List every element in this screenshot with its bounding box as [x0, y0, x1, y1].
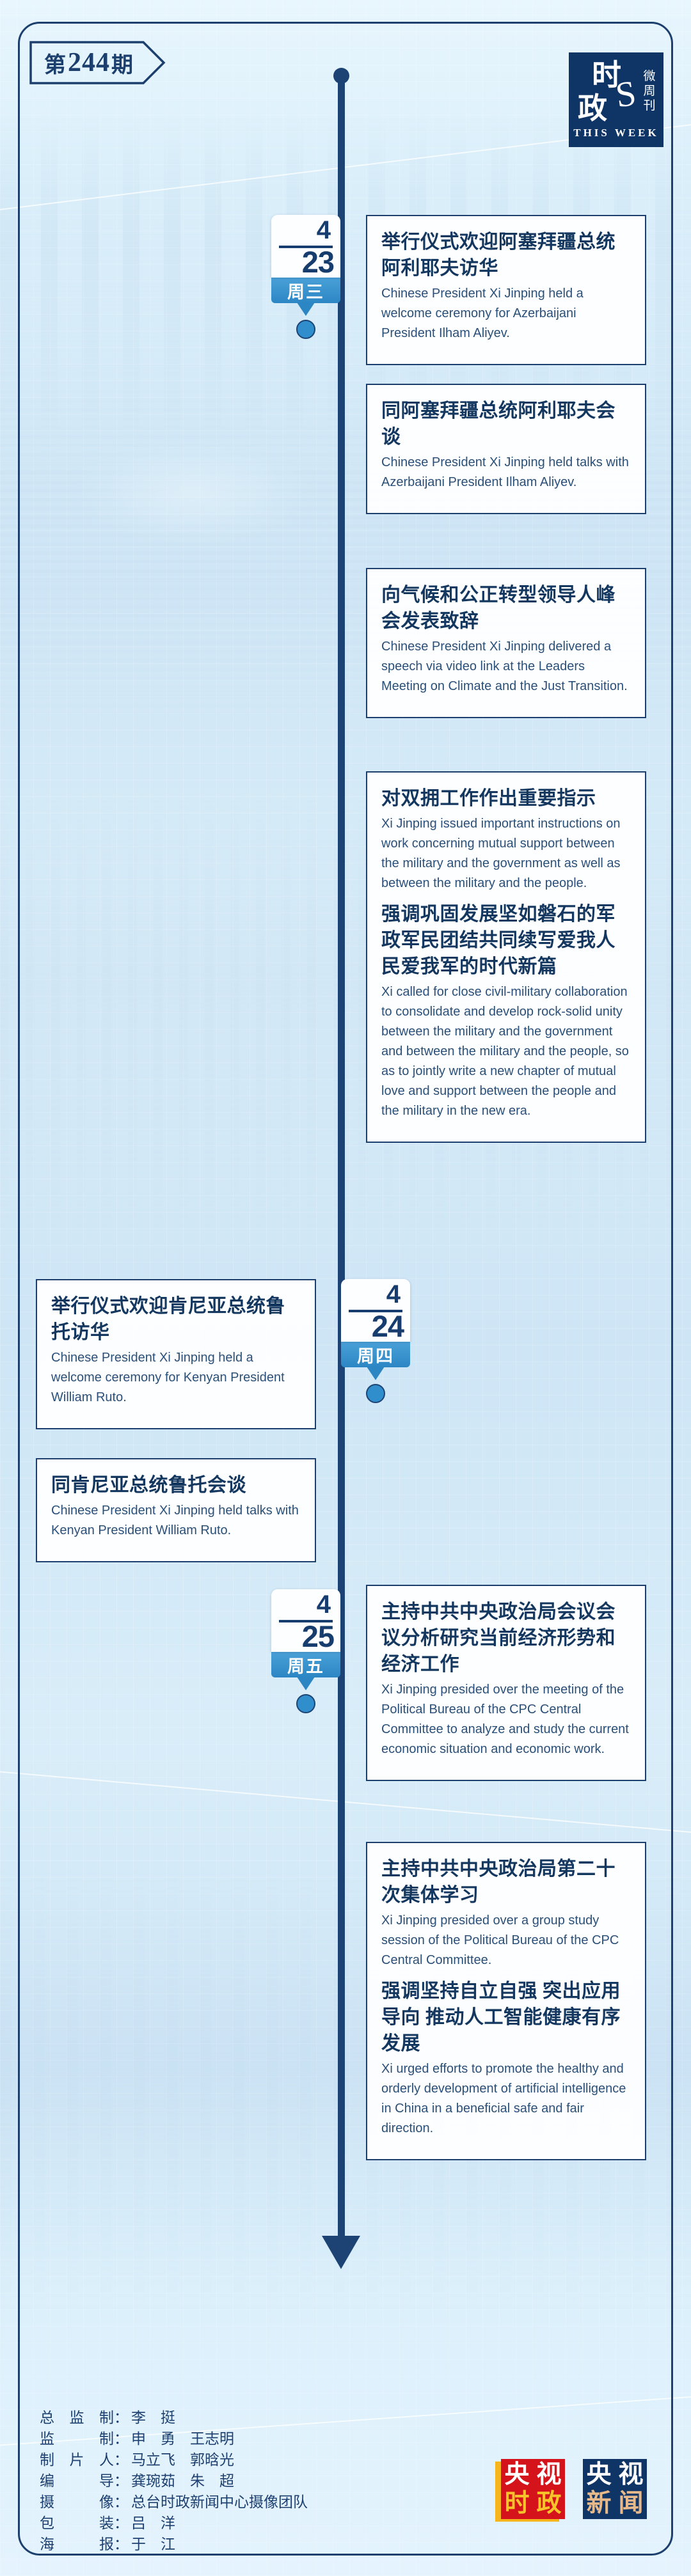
- logo-char-zhou: 周: [642, 84, 656, 98]
- logo-char-shi: 视: [536, 2460, 561, 2489]
- timeline-node-dot: [296, 320, 315, 339]
- event-desc-en: Chinese President Xi Jinping held talks …: [51, 1501, 301, 1541]
- issue-suffix: 期: [111, 47, 134, 79]
- date-marker: 4 24 周四: [341, 1279, 410, 1367]
- timeline-node-dot: [296, 1694, 315, 1713]
- credit-colon: ：: [114, 2513, 129, 2534]
- credit-names: 李 挺: [131, 2407, 175, 2428]
- event-desc-en: Chinese President Xi Jinping held talks …: [381, 453, 631, 492]
- logo-char-kan: 刊: [642, 98, 656, 113]
- event-title-cn-secondary: 强调巩固发展坚如磐石的军政军民团结共同续写爱我人民爱我军的时代新篇: [381, 901, 631, 980]
- credit-names: 申 勇 王志明: [131, 2428, 234, 2449]
- event-desc-en: Chinese President Xi Jinping held a welc…: [381, 284, 631, 343]
- event-card[interactable]: 举行仪式欢迎肯尼亚总统鲁托访华 Chinese President Xi Jin…: [36, 1279, 316, 1429]
- date-month: 4: [386, 1280, 400, 1309]
- date-day: 23: [302, 244, 334, 278]
- event-card[interactable]: 同肯尼亚总统鲁托会谈 Chinese President Xi Jinping …: [36, 1458, 316, 1562]
- credit-colon: ：: [114, 2407, 129, 2428]
- date-weekday: 周五: [271, 1652, 340, 1677]
- issue-badge: 第244期: [29, 41, 166, 84]
- logo-subtitle-vertical: 微 周 刊: [642, 69, 656, 113]
- event-desc-en: Xi Jinping presided over the meeting of …: [381, 1680, 631, 1759]
- credit-row: 总监制：李 挺: [40, 2407, 308, 2428]
- credit-names: 于 江: [131, 2534, 175, 2555]
- date-marker: 4 25 周五: [271, 1589, 340, 1677]
- credit-role: 摄像: [40, 2492, 114, 2513]
- date-marker: 4 23 周三: [271, 215, 340, 303]
- logo-char-shi: 视: [618, 2460, 643, 2489]
- cctv-xinwen-logo[interactable]: 央 视 新 闻: [581, 2457, 649, 2521]
- logo-char-wei: 微: [642, 69, 656, 84]
- credit-role: 监制: [40, 2428, 114, 2449]
- event-card[interactable]: 对双拥工作作出重要指示 Xi Jinping issued important …: [366, 771, 646, 1143]
- event-desc-en-secondary: Xi called for close civil-military colla…: [381, 982, 631, 1121]
- credit-names: 总台时政新闻中心摄像团队: [131, 2492, 308, 2513]
- credit-row: 编导：龚琬茹 朱 超: [40, 2470, 308, 2492]
- event-title-cn: 同肯尼亚总统鲁托会谈: [51, 1472, 301, 1498]
- credit-names: 马立飞 郭晗光: [131, 2449, 234, 2470]
- credit-names: 龚琬茹 朱 超: [131, 2470, 234, 2492]
- event-card[interactable]: 主持中共中央政治局第二十次集体学习 Xi Jinping presided ov…: [366, 1842, 646, 2160]
- event-desc-en: Xi Jinping presided over a group study s…: [381, 1911, 631, 1970]
- date-marker-pointer-icon: [297, 302, 315, 316]
- date-day: 24: [372, 1308, 404, 1342]
- logo-char-xin: 新: [586, 2489, 611, 2518]
- date-month: 4: [317, 216, 330, 245]
- credit-row: 摄像：总台时政新闻中心摄像团队: [40, 2492, 308, 2513]
- event-desc-en: Xi Jinping issued important instructions…: [381, 814, 631, 893]
- logo-char-yang: 央: [586, 2460, 611, 2489]
- credit-role: 总监制: [40, 2407, 114, 2428]
- event-card[interactable]: 向气候和公正转型领导人峰会发表致辞 Chinese President Xi J…: [366, 568, 646, 718]
- event-title-cn: 对双拥工作作出重要指示: [381, 785, 631, 812]
- credit-colon: ：: [114, 2449, 129, 2470]
- credit-role: 制片人: [40, 2449, 114, 2470]
- credit-row: 制片人：马立飞 郭晗光: [40, 2449, 308, 2470]
- event-desc-en-secondary: Xi urged efforts to promote the healthy …: [381, 2059, 631, 2139]
- credit-colon: ：: [114, 2534, 129, 2555]
- event-card[interactable]: 同阿塞拜疆总统阿利耶夫会谈 Chinese President Xi Jinpi…: [366, 384, 646, 514]
- event-card[interactable]: 举行仪式欢迎阿塞拜疆总统阿利耶夫访华 Chinese President Xi …: [366, 215, 646, 365]
- credit-row: 包装：吕 洋: [40, 2513, 308, 2534]
- credit-row: 监制：申 勇 王志明: [40, 2428, 308, 2449]
- event-title-cn: 举行仪式欢迎阿塞拜疆总统阿利耶夫访华: [381, 229, 631, 281]
- credits-block: 总监制：李 挺 监制：申 勇 王志明 制片人：马立飞 郭晗光 编导：龚琬茹 朱 …: [40, 2407, 308, 2555]
- date-marker-pointer-icon: [367, 1367, 385, 1380]
- logo-inner: 央 视 时 政: [501, 2459, 565, 2519]
- credit-names: 吕 洋: [131, 2513, 175, 2534]
- this-week-logo: 时 政 S 微 周 刊 THIS WEEK: [569, 52, 663, 147]
- credit-colon: ：: [114, 2492, 129, 2513]
- footer-logos: 央 视 时 政 央 视 新 闻: [499, 2457, 649, 2521]
- credit-role: 编导: [40, 2470, 114, 2492]
- issue-prefix: 第: [44, 47, 67, 79]
- timeline-end-arrow-icon: [322, 2236, 360, 2269]
- event-title-cn: 举行仪式欢迎肯尼亚总统鲁托访华: [51, 1293, 301, 1346]
- date-month: 4: [317, 1590, 330, 1619]
- date-marker-box: 4 23: [271, 215, 340, 278]
- event-title-cn-secondary: 强调坚持自立自强 突出应用导向 推动人工智能健康有序发展: [381, 1978, 631, 2057]
- event-title-cn: 同阿塞拜疆总统阿利耶夫会谈: [381, 398, 631, 450]
- credit-role: 包装: [40, 2513, 114, 2534]
- logo-char-wen: 闻: [618, 2489, 643, 2518]
- logo-inner: 央 视 新 闻: [583, 2459, 647, 2519]
- logo-char-zheng: 政: [536, 2489, 561, 2518]
- cctv-shizheng-logo[interactable]: 央 视 时 政: [499, 2457, 567, 2521]
- event-title-cn: 向气候和公正转型领导人峰会发表致辞: [381, 582, 631, 634]
- logo-english-text: THIS WEEK: [569, 127, 663, 139]
- date-marker-pointer-icon: [297, 1677, 315, 1690]
- logo-char-shi2: 时: [504, 2489, 529, 2518]
- credit-colon: ：: [114, 2470, 129, 2492]
- credit-colon: ：: [114, 2428, 129, 2449]
- event-title-cn: 主持中共中央政治局第二十次集体学习: [381, 1856, 631, 1908]
- timeline-node-dot: [366, 1384, 385, 1403]
- event-title-cn: 主持中共中央政治局会议会议分析研究当前经济形势和经济工作: [381, 1599, 631, 1677]
- event-card[interactable]: 主持中共中央政治局会议会议分析研究当前经济形势和经济工作 Xi Jinping …: [366, 1585, 646, 1781]
- issue-badge-text: 第244期: [29, 41, 148, 84]
- logo-char-yang: 央: [504, 2460, 529, 2489]
- credit-row: 海报：于 江: [40, 2534, 308, 2555]
- date-day: 25: [302, 1619, 334, 1652]
- event-desc-en: Chinese President Xi Jinping delivered a…: [381, 637, 631, 696]
- timeline-start-dot: [333, 68, 349, 84]
- credit-role: 海报: [40, 2534, 114, 2555]
- event-desc-en: Chinese President Xi Jinping held a welc…: [51, 1348, 301, 1408]
- date-marker-box: 4 24: [341, 1279, 410, 1342]
- issue-number: 244: [67, 47, 111, 78]
- date-weekday: 周四: [341, 1342, 410, 1367]
- timeline-spine: [338, 72, 345, 2241]
- date-marker-box: 4 25: [271, 1589, 340, 1652]
- date-weekday: 周三: [271, 278, 340, 303]
